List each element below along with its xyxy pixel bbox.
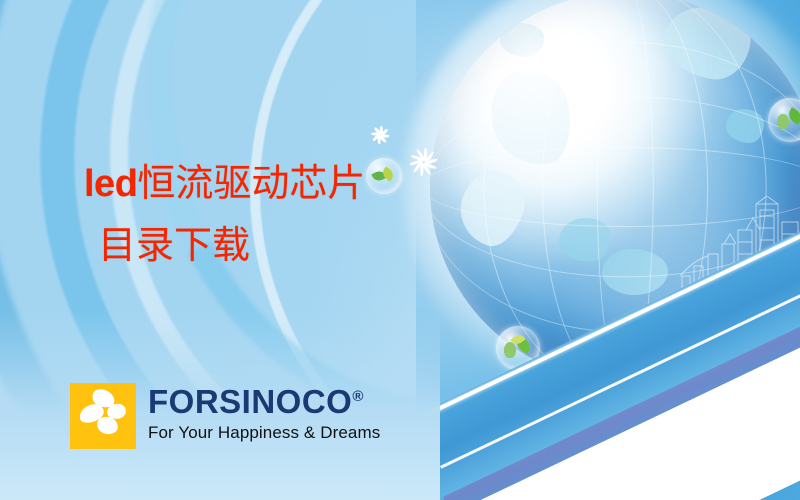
bubble-leaf-top xyxy=(366,158,402,194)
brand-name-word: FORSINOCO xyxy=(148,383,352,420)
headline-line-2: 目录下载 xyxy=(84,224,365,267)
brand-tagline: For Your Happiness & Dreams xyxy=(148,423,380,443)
headline-cjk: 恒流驱动芯片 xyxy=(137,161,365,205)
starburst-lower xyxy=(408,148,436,176)
headline-latin: led xyxy=(84,163,137,205)
promo-banner: led恒流驱动芯片 目录下载 FORSINOCO® For Your Happi… xyxy=(0,0,800,500)
starburst-upper xyxy=(370,126,388,144)
forsinoco-flower-mark-icon xyxy=(70,383,136,449)
brand-logo: FORSINOCO® For Your Happiness & Dreams xyxy=(70,383,380,449)
brand-text-block: FORSINOCO® For Your Happiness & Dreams xyxy=(148,383,380,443)
headline-line-1: led恒流驱动芯片 xyxy=(84,162,365,206)
brand-name: FORSINOCO® xyxy=(148,385,380,418)
registered-trademark-symbol: ® xyxy=(352,388,363,405)
headline-text: led恒流驱动芯片 目录下载 xyxy=(84,162,365,266)
